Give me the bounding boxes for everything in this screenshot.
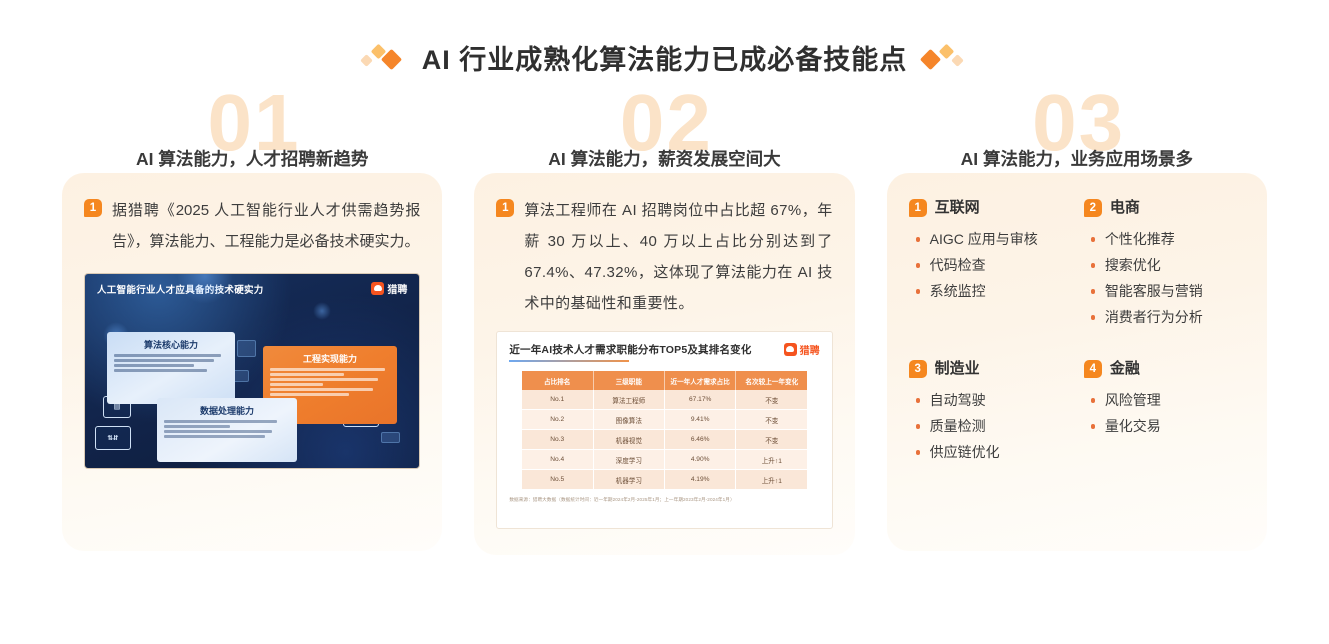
list-item: 供应链优化 xyxy=(915,439,1070,465)
infographic-box-data: 数据处理能力 xyxy=(157,398,297,462)
card-02-paragraph-block: 1 算法工程师在 AI 招聘岗位中占比超 67%，年薪 30 万以上、40 万以… xyxy=(496,195,832,319)
list-item: 代码检查 xyxy=(915,252,1070,278)
column-03-title: AI 算法能力，业务应用场景多 xyxy=(887,146,1267,171)
category-header: 4 金融 xyxy=(1084,356,1245,378)
table-col-header: 近一年人才需求占比 xyxy=(664,371,735,390)
cell-share: 4.19% xyxy=(664,470,735,490)
cell-role: 算法工程师 xyxy=(593,390,664,410)
diamond-small-icon xyxy=(951,54,964,67)
diamond-ornament-right-icon xyxy=(921,43,967,73)
cell-role: 机器学习 xyxy=(593,470,664,490)
paragraph-number-badge: 1 xyxy=(496,199,514,217)
diamond-small-icon xyxy=(360,54,373,67)
liepin-logo-text: 猎聘 xyxy=(387,281,407,296)
chart-title-wrap: 近一年AI技术人才需求职能分布TOP5及其排名变化 xyxy=(509,342,751,362)
card-01: 1 据猎聘《2025 人工智能行业人才供需趋势报告》，算法能力、工程能力是必备技… xyxy=(62,173,442,551)
liepin-logo: 猎聘 xyxy=(784,342,820,357)
decor-chip xyxy=(381,432,400,443)
title-underline xyxy=(509,360,629,362)
list-item: 质量检测 xyxy=(915,413,1070,439)
page-title: AI 行业成熟化算法能力已成必备技能点 xyxy=(422,38,908,77)
category-number-badge: 1 xyxy=(909,199,927,217)
liepin-mark-icon xyxy=(371,282,384,295)
cell-role: 图像算法 xyxy=(593,410,664,430)
diamond-mid-icon xyxy=(939,43,955,59)
card-01-paragraph-block: 1 据猎聘《2025 人工智能行业人才供需趋势报告》，算法能力、工程能力是必备技… xyxy=(84,195,420,257)
column-03-head: 03 AI 算法能力，业务应用场景多 xyxy=(887,95,1267,173)
cell-rank: No.4 xyxy=(522,450,593,470)
category-item-list: AIGC 应用与审核 代码检查 系统监控 xyxy=(915,226,1070,304)
infographic-box-lines xyxy=(270,368,390,396)
category-title: 互联网 xyxy=(935,196,980,217)
category-item-list: 风险管理 量化交易 xyxy=(1090,387,1245,439)
list-item: 搜索优化 xyxy=(1090,252,1245,278)
card-02-paragraph-text: 算法工程师在 AI 招聘岗位中占比超 67%，年薪 30 万以上、40 万以上占… xyxy=(524,195,832,319)
cell-role: 深度学习 xyxy=(593,450,664,470)
column-02: 02 AI 算法能力，薪资发展空间大 1 算法工程师在 AI 招聘岗位中占比超 … xyxy=(474,95,854,555)
category-title: 电商 xyxy=(1110,196,1140,217)
category-finance: 4 金融 风险管理 量化交易 xyxy=(1084,356,1245,465)
category-title: 制造业 xyxy=(935,357,980,378)
category-number-badge: 2 xyxy=(1084,199,1102,217)
list-item: 个性化推荐 xyxy=(1090,226,1245,252)
table-col-header: 三级职能 xyxy=(593,371,664,390)
decor-chip xyxy=(237,340,256,357)
cell-change: 不变 xyxy=(736,430,807,450)
list-item: 消费者行为分析 xyxy=(1090,304,1245,330)
list-item: 智能客服与营销 xyxy=(1090,278,1245,304)
table-col-header: 占比排名 xyxy=(522,371,593,390)
table-header-row: 占比排名 三级职能 近一年人才需求占比 名次较上一年变化 xyxy=(522,371,808,390)
card-02: 1 算法工程师在 AI 招聘岗位中占比超 67%，年薪 30 万以上、40 万以… xyxy=(474,173,854,555)
category-ecommerce: 2 电商 个性化推荐 搜索优化 智能客服与营销 消费者行为分析 xyxy=(1084,195,1245,330)
category-header: 2 电商 xyxy=(1084,195,1245,217)
cell-share: 6.46% xyxy=(664,430,735,450)
columns-container: 01 AI 算法能力，人才招聘新趋势 1 据猎聘《2025 人工智能行业人才供需… xyxy=(0,95,1329,555)
liepin-logo-text: 猎聘 xyxy=(800,342,820,357)
liepin-logo: 猎聘 xyxy=(371,281,407,296)
cell-change: 不变 xyxy=(736,410,807,430)
category-header: 1 互联网 xyxy=(909,195,1070,217)
cell-rank: No.1 xyxy=(522,390,593,410)
infographic-box-title: 工程实现能力 xyxy=(270,352,390,365)
decor-blob-icon xyxy=(177,273,233,304)
chart-header: 近一年AI技术人才需求职能分布TOP5及其排名变化 猎聘 xyxy=(509,342,819,362)
cell-share: 4.90% xyxy=(664,450,735,470)
card-01-paragraph-text: 据猎聘《2025 人工智能行业人才供需趋势报告》，算法能力、工程能力是必备技术硬… xyxy=(112,195,420,257)
category-manufacturing: 3 制造业 自动驾驶 质量检测 供应链优化 xyxy=(909,356,1070,465)
table-row: No.1 算法工程师 67.17% 不变 xyxy=(522,390,808,410)
cell-change: 上升↑1 xyxy=(736,450,807,470)
column-01-head: 01 AI 算法能力，人才招聘新趋势 xyxy=(62,95,442,173)
column-03: 03 AI 算法能力，业务应用场景多 1 互联网 AIGC 应用与审核 代码检查… xyxy=(887,95,1267,551)
liepin-mark-icon xyxy=(784,343,797,356)
page-header: AI 行业成熟化算法能力已成必备技能点 xyxy=(0,0,1329,77)
infographic-box-title: 数据处理能力 xyxy=(164,404,290,417)
column-01: 01 AI 算法能力，人才招聘新趋势 1 据猎聘《2025 人工智能行业人才供需… xyxy=(62,95,442,551)
category-item-list: 自动驾驶 质量检测 供应链优化 xyxy=(915,387,1070,465)
chart-source-note: 数据来源：猎聘大数据（数据统计时间：近一年期2024年2月-2025年1月；上一… xyxy=(509,497,819,503)
category-number-badge: 3 xyxy=(909,360,927,378)
list-item: 风险管理 xyxy=(1090,387,1245,413)
card-03: 1 互联网 AIGC 应用与审核 代码检查 系统监控 2 电商 xyxy=(887,173,1267,551)
category-header: 3 制造业 xyxy=(909,356,1070,378)
category-grid: 1 互联网 AIGC 应用与审核 代码检查 系统监控 2 电商 xyxy=(909,195,1245,465)
diamond-ornament-left-icon xyxy=(362,43,408,73)
table-row: No.5 机器学习 4.19% 上升↑1 xyxy=(522,470,808,490)
cell-rank: No.5 xyxy=(522,470,593,490)
cell-share: 67.17% xyxy=(664,390,735,410)
table-row: No.3 机器视觉 6.46% 不变 xyxy=(522,430,808,450)
table-row: No.4 深度学习 4.90% 上升↑1 xyxy=(522,450,808,470)
cell-rank: No.2 xyxy=(522,410,593,430)
chart-title: 近一年AI技术人才需求职能分布TOP5及其排名变化 xyxy=(509,342,751,357)
slider-controls-icon: ⇅⇵ xyxy=(95,426,131,450)
infographic-box-title: 算法核心能力 xyxy=(114,338,228,351)
column-02-head: 02 AI 算法能力，薪资发展空间大 xyxy=(474,95,854,173)
list-item: 量化交易 xyxy=(1090,413,1245,439)
infographic-box-lines xyxy=(164,420,290,438)
list-item: 自动驾驶 xyxy=(915,387,1070,413)
infographic-box-lines xyxy=(114,354,228,372)
infographic-box-algorithm: 算法核心能力 xyxy=(107,332,235,404)
column-02-title: AI 算法能力，薪资发展空间大 xyxy=(474,146,854,171)
cell-role: 机器视觉 xyxy=(593,430,664,450)
table-row: No.2 图像算法 9.41% 不变 xyxy=(522,410,808,430)
chart-image-02: 近一年AI技术人才需求职能分布TOP5及其排名变化 猎聘 占比排名 三级职能 近… xyxy=(496,331,832,529)
decor-blob-icon xyxy=(313,302,331,320)
list-item: AIGC 应用与审核 xyxy=(915,226,1070,252)
table-col-header: 名次较上一年变化 xyxy=(736,371,807,390)
list-item: 系统监控 xyxy=(915,278,1070,304)
infographic-header: 人工智能行业人才应具备的技术硬实力 猎聘 xyxy=(85,274,419,296)
cell-change: 上升↑1 xyxy=(736,470,807,490)
paragraph-number-badge: 1 xyxy=(84,199,102,217)
category-title: 金融 xyxy=(1110,357,1140,378)
category-item-list: 个性化推荐 搜索优化 智能客服与营销 消费者行为分析 xyxy=(1090,226,1245,330)
column-01-title: AI 算法能力，人才招聘新趋势 xyxy=(62,146,442,171)
cell-rank: No.3 xyxy=(522,430,593,450)
infographic-image-01: 人工智能行业人才应具备的技术硬实力 猎聘 ▤ ⇅⇵ </> 算法核心能力 xyxy=(84,273,420,469)
cell-share: 9.41% xyxy=(664,410,735,430)
cell-change: 不变 xyxy=(736,390,807,410)
category-internet: 1 互联网 AIGC 应用与审核 代码检查 系统监控 xyxy=(909,195,1070,330)
rank-table: 占比排名 三级职能 近一年人才需求占比 名次较上一年变化 No.1 算法工程师 … xyxy=(522,371,808,490)
category-number-badge: 4 xyxy=(1084,360,1102,378)
